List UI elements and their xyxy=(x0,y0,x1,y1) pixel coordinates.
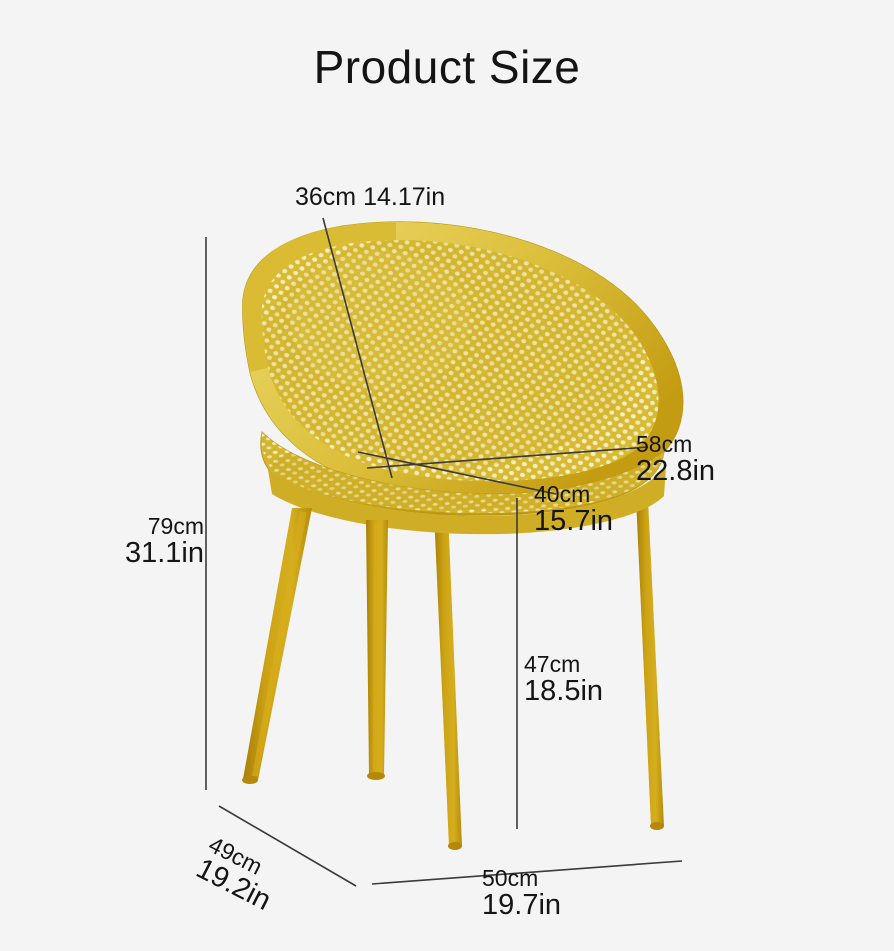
dimension-label-overall-height: 79cm 31.1in xyxy=(108,514,204,569)
dimension-value-seat-height-inch: 18.5in xyxy=(524,676,603,707)
dimension-value-base-width-cm: 50cm xyxy=(482,866,561,890)
dimension-value-back-width-inch: 14.17in xyxy=(363,183,445,211)
dimension-value-overall-width-cm: 58cm xyxy=(636,432,715,456)
leg-back-left xyxy=(434,512,462,847)
dimension-value-overall-width-inch: 22.8in xyxy=(636,456,715,487)
leg-front-left-highlight xyxy=(252,512,307,776)
dimension-value-back-width-cm: 36cm xyxy=(295,183,356,211)
chair-illustration xyxy=(0,0,894,951)
dimension-value-seat-height-cm: 47cm xyxy=(524,652,603,676)
dimension-value-overall-height-inch: 31.1in xyxy=(108,538,204,569)
dimension-label-overall-width: 58cm 22.8in xyxy=(636,432,715,487)
page-title: Product Size xyxy=(0,42,894,93)
dimension-label-base-width: 50cm 19.7in xyxy=(482,866,561,921)
dimension-label-seat-depth: 40cm 15.7in xyxy=(534,482,613,537)
chair-legs-front xyxy=(243,508,388,780)
dimension-label-back-width: 36cm 14.17in xyxy=(295,184,445,211)
leg-back-right xyxy=(636,498,664,827)
dimension-label-seat-height: 47cm 18.5in xyxy=(524,652,603,707)
product-size-diagram: Product Size 36cm 14.17in 58cm 22.8in 40… xyxy=(0,0,894,951)
dimension-value-seat-depth-cm: 40cm xyxy=(534,482,613,506)
chair-graphic xyxy=(242,222,683,850)
dimension-value-overall-height-cm: 79cm xyxy=(108,514,204,538)
dimension-value-seat-depth-inch: 15.7in xyxy=(534,506,613,537)
dimension-value-base-width-inch: 19.7in xyxy=(482,890,561,921)
